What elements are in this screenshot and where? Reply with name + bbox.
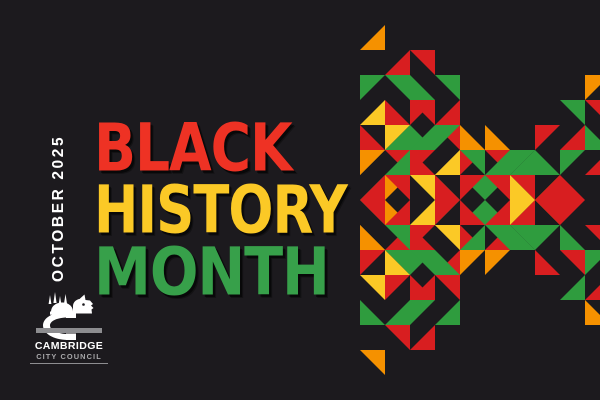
pattern-triangle <box>485 150 510 175</box>
cambridge-city-council-logo: CAMBRIDGE CITY COUNCIL <box>30 291 108 366</box>
pattern-triangle <box>510 175 535 200</box>
pattern-triangle <box>410 225 435 250</box>
pattern-triangle <box>410 300 435 325</box>
pattern-triangle <box>585 100 600 125</box>
pattern-triangle <box>385 200 410 225</box>
bridge-and-c-emblem-icon <box>30 291 108 341</box>
pattern-triangle <box>410 125 435 150</box>
pattern-triangle <box>385 175 410 200</box>
pattern-triangle <box>435 225 460 250</box>
pattern-triangle <box>560 250 585 275</box>
pattern-triangle <box>560 225 585 250</box>
pattern-triangle <box>385 300 410 325</box>
pattern-triangle <box>385 175 410 200</box>
pattern-triangle <box>410 150 435 175</box>
date-label: OCTOBER 2025 <box>48 122 70 282</box>
pattern-triangle <box>360 175 385 200</box>
pattern-triangle <box>560 175 585 200</box>
pattern-triangle <box>385 125 410 150</box>
pattern-triangle <box>435 200 460 225</box>
pattern-triangle <box>460 250 485 275</box>
pattern-triangle <box>535 200 560 225</box>
pattern-triangle <box>460 125 485 150</box>
pattern-triangle <box>435 150 460 175</box>
pattern-triangle <box>460 200 485 225</box>
pattern-triangle <box>585 250 600 275</box>
pattern-triangle <box>410 200 435 225</box>
pattern-triangle <box>410 325 435 350</box>
pattern-triangle <box>385 50 410 75</box>
pattern-triangle <box>410 250 435 275</box>
pattern-triangle <box>360 200 385 225</box>
black-history-month-poster: OCTOBER 2025 BLACK HISTORY MONTH <box>0 0 600 400</box>
geometric-triangle-pattern <box>360 0 600 400</box>
pattern-triangle <box>510 225 535 250</box>
logo-name: CAMBRIDGE <box>30 340 108 352</box>
pattern-triangle <box>410 75 435 100</box>
pattern-triangle <box>385 250 410 275</box>
pattern-triangle <box>485 250 510 275</box>
pattern-triangle <box>360 100 385 125</box>
pattern-triangle <box>435 150 460 175</box>
pattern-triangle <box>410 50 435 75</box>
pattern-triangle <box>435 200 460 225</box>
pattern-triangle <box>385 225 410 250</box>
pattern-triangle <box>510 175 535 200</box>
pattern-triangle <box>435 175 460 200</box>
pattern-triangle <box>360 150 385 175</box>
pattern-triangle <box>585 150 600 175</box>
page-title: BLACK HISTORY MONTH <box>94 124 342 298</box>
pattern-triangle <box>510 150 535 175</box>
pattern-triangle <box>585 300 600 325</box>
pattern-triangle <box>585 275 600 300</box>
pattern-triangle <box>385 100 410 125</box>
pattern-triangle <box>435 125 460 150</box>
pattern-triangle <box>435 100 460 125</box>
pattern-triangle <box>435 250 460 275</box>
pattern-triangle <box>385 150 410 175</box>
pattern-triangle <box>460 225 485 250</box>
pattern-triangle <box>460 225 485 250</box>
pattern-triangle <box>535 125 560 150</box>
pattern-triangle <box>410 100 435 125</box>
pattern-triangle <box>560 125 585 150</box>
pattern-triangle <box>560 200 585 225</box>
pattern-triangle <box>535 225 560 250</box>
pattern-triangle <box>360 125 385 150</box>
pattern-triangle <box>435 275 460 300</box>
pattern-triangle <box>560 275 585 300</box>
pattern-triangle <box>485 200 510 225</box>
pattern-triangle <box>435 175 460 200</box>
pattern-triangle <box>410 125 435 150</box>
pattern-triangle <box>435 300 460 325</box>
pattern-triangle <box>360 25 385 50</box>
pattern-triangle <box>385 125 410 150</box>
pattern-triangle <box>410 100 435 125</box>
pattern-triangle <box>410 175 435 200</box>
pattern-triangle <box>485 125 510 150</box>
pattern-triangle <box>385 275 410 300</box>
pattern-triangle <box>510 200 535 225</box>
logo-wordmark: CAMBRIDGE CITY COUNCIL <box>30 340 108 364</box>
pattern-triangle <box>485 225 510 250</box>
logo-subtitle: CITY COUNCIL <box>30 352 108 364</box>
pattern-triangle <box>535 250 560 275</box>
pattern-triangle <box>435 75 460 100</box>
pattern-triangle <box>585 125 600 150</box>
pattern-triangle <box>385 325 410 350</box>
date-label-text: OCTOBER 2025 <box>48 122 70 282</box>
pattern-triangle <box>385 250 410 275</box>
pattern-triangle <box>410 150 435 175</box>
pattern-triangle <box>435 125 460 150</box>
pattern-triangle <box>560 100 585 125</box>
headline-line-month: MONTH <box>94 242 367 305</box>
pattern-triangle <box>460 150 485 175</box>
headline-line-black: BLACK <box>94 118 357 181</box>
pattern-triangle <box>485 175 510 200</box>
pattern-triangle <box>585 75 600 100</box>
pattern-triangle <box>460 175 485 200</box>
pattern-triangle <box>410 275 435 300</box>
pattern-triangle <box>535 175 560 200</box>
pattern-triangle <box>585 225 600 250</box>
pattern-triangle <box>535 150 560 175</box>
pattern-triangle <box>410 275 435 300</box>
pattern-triangle <box>485 150 510 175</box>
pattern-triangle <box>460 200 485 225</box>
pattern-triangle <box>510 150 535 175</box>
pattern-triangle <box>410 225 435 250</box>
pattern-triangle <box>510 225 535 250</box>
pattern-triangle <box>410 250 435 275</box>
pattern-triangle <box>385 200 410 225</box>
pattern-triangle <box>360 350 385 375</box>
headline-line-history: HISTORY <box>94 180 347 243</box>
pattern-triangle <box>360 150 385 175</box>
pattern-triangle <box>385 150 410 175</box>
pattern-triangle <box>435 250 460 275</box>
pattern-triangle <box>385 225 410 250</box>
pattern-triangle <box>435 225 460 250</box>
pattern-triangle <box>360 200 385 225</box>
pattern-triangle <box>535 200 560 225</box>
pattern-triangle <box>460 175 485 200</box>
pattern-triangle <box>360 175 385 200</box>
pattern-triangle <box>560 150 585 175</box>
pattern-triangle <box>385 75 410 100</box>
pattern-triangle <box>535 175 560 200</box>
pattern-triangle <box>510 200 535 225</box>
pattern-triangle <box>410 200 435 225</box>
pattern-triangle <box>360 75 385 100</box>
pattern-triangle <box>485 225 510 250</box>
pattern-triangle <box>410 175 435 200</box>
pattern-triangle <box>485 200 510 225</box>
pattern-triangle <box>460 150 485 175</box>
pattern-triangle <box>485 175 510 200</box>
